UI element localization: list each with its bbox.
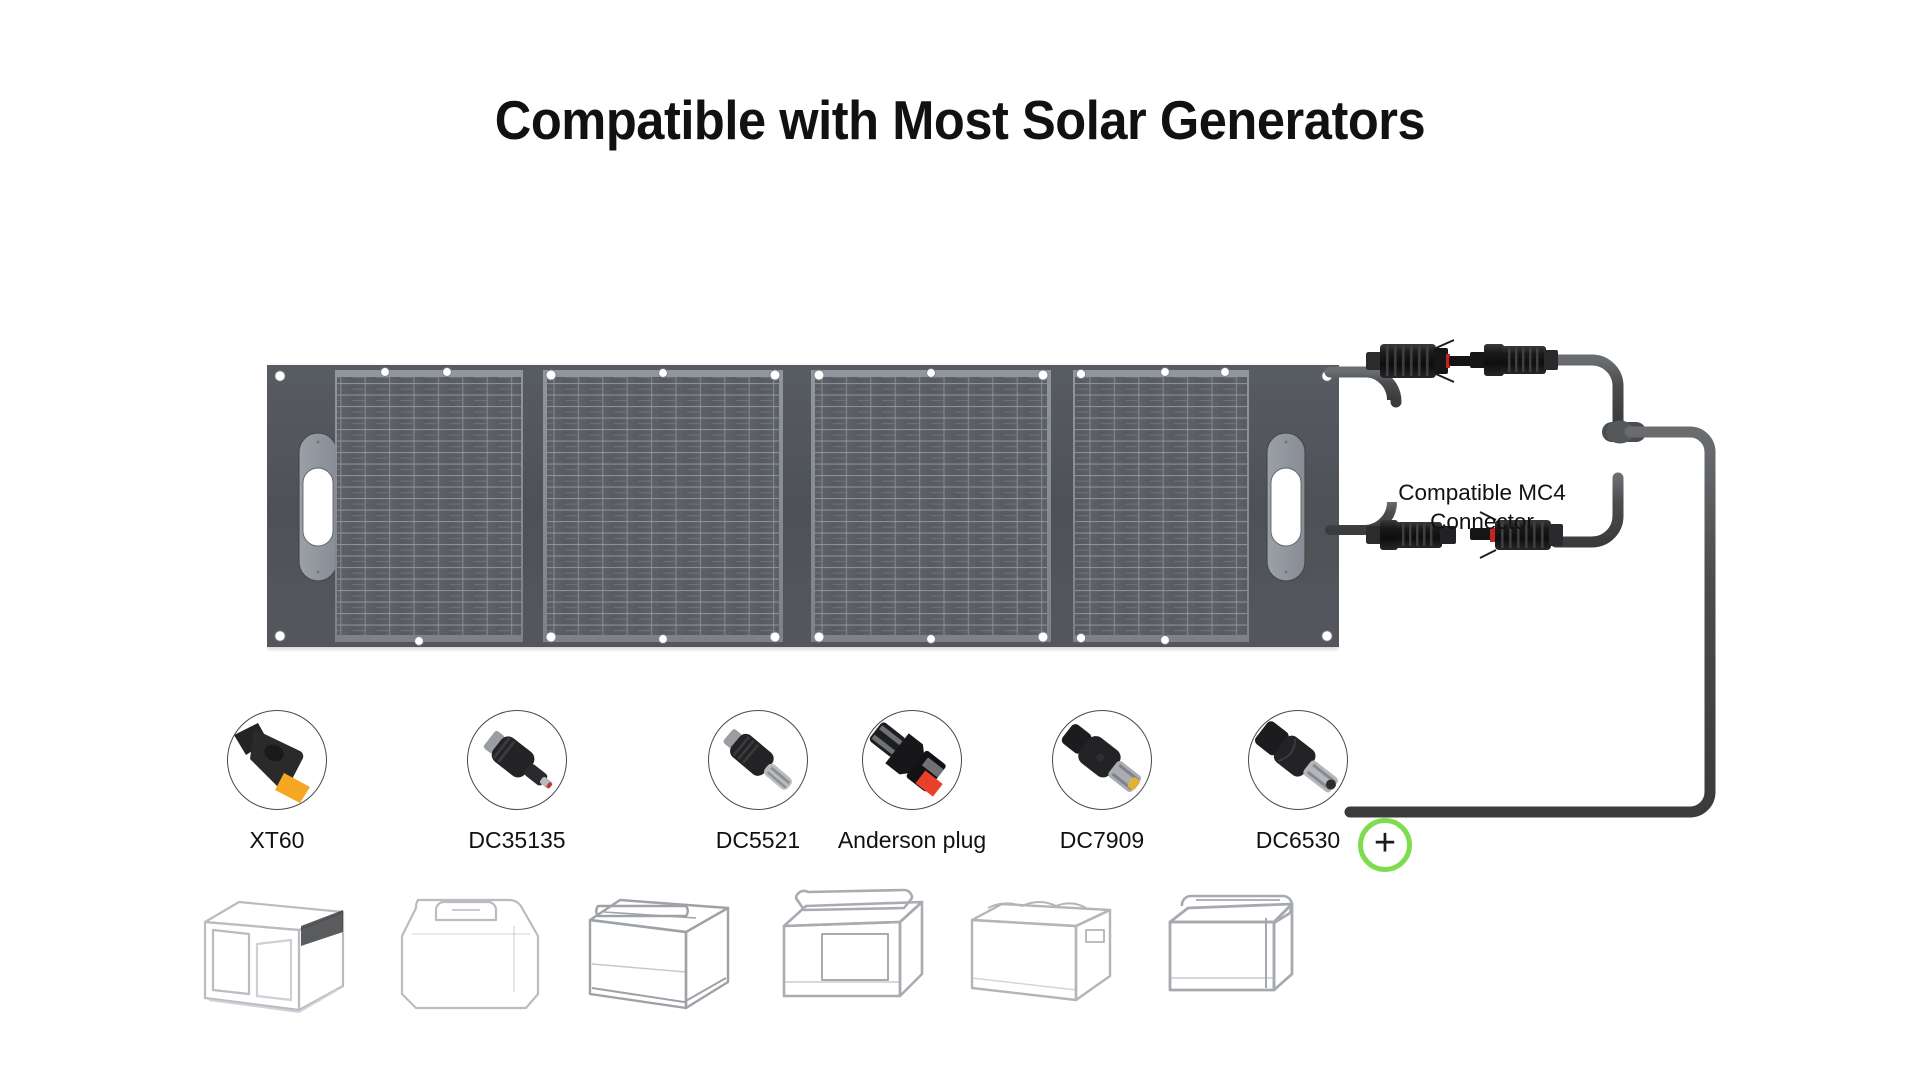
connector-item-dc7909[interactable]: DC7909: [1022, 710, 1182, 854]
mc4-connector-top-right: [1470, 344, 1558, 376]
panel-fold-3: [797, 365, 1065, 647]
infographic-canvas: Compatible with Most Solar Generators: [0, 0, 1920, 1080]
power-station-outline-5: [948, 868, 1148, 1018]
connector-label: XT60: [250, 827, 305, 854]
page-title: Compatible with Most Solar Generators: [77, 88, 1843, 152]
dc35135-barrel-plug-icon: [467, 710, 567, 810]
dc5521-barrel-plug-icon: [708, 710, 808, 810]
mc4-connector-top-left: [1366, 340, 1473, 382]
connector-item-dc5521[interactable]: DC5521: [678, 710, 838, 854]
connector-item-dc35135[interactable]: DC35135: [437, 710, 597, 854]
mc4-connector-label: Compatible MC4 Connector: [1344, 478, 1620, 536]
dc7909-barrel-plug-icon: [1052, 710, 1152, 810]
generator-outline-list: [0, 868, 1920, 1028]
connector-label: DC35135: [468, 827, 565, 854]
cable-top-to-junction: [1556, 360, 1618, 424]
connector-label: Anderson plug: [838, 827, 986, 854]
power-station-outline-1: [177, 868, 377, 1018]
power-station-outline-4: [756, 868, 956, 1018]
carry-handle-right: [1267, 433, 1305, 581]
xt60-plug-icon: [227, 710, 327, 810]
connector-list: XT60 DC35135: [0, 710, 1920, 850]
panel-fold-1: [267, 365, 529, 647]
power-station-outline-2: [372, 868, 572, 1018]
plus-icon: +: [1374, 824, 1396, 862]
panel-fold-4: [1065, 365, 1339, 647]
dc6530-barrel-plug-icon: [1248, 710, 1348, 810]
solar-panel-illustration: [267, 360, 1339, 652]
solar-panel: [267, 360, 1339, 652]
connector-label: DC6530: [1256, 827, 1340, 854]
connector-label: DC7909: [1060, 827, 1144, 854]
connector-label: DC5521: [716, 827, 800, 854]
connector-item-anderson[interactable]: Anderson plug: [832, 710, 992, 854]
anderson-plug-icon: [862, 710, 962, 810]
connector-item-dc6530[interactable]: DC6530: [1218, 710, 1378, 854]
power-station-outline-3: [566, 868, 766, 1018]
power-station-outline-6: [1142, 868, 1342, 1018]
connector-item-xt60[interactable]: XT60: [197, 710, 357, 854]
plus-badge: +: [1358, 818, 1412, 872]
carry-handle-left: [299, 433, 337, 581]
panel-fold-2: [529, 365, 797, 647]
